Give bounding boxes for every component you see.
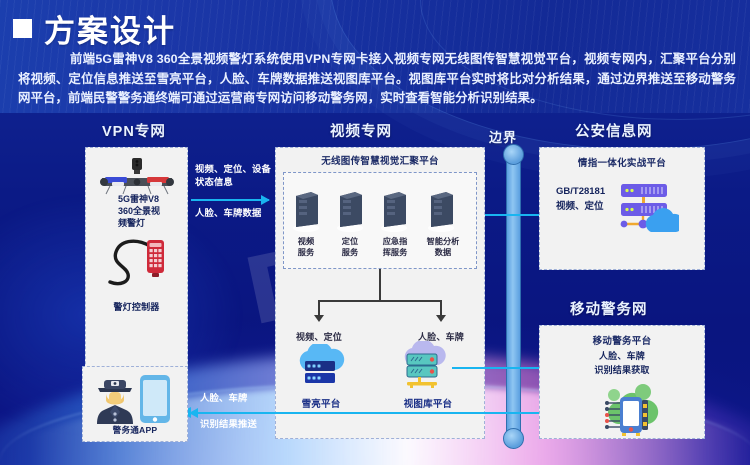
server-label-emergency-l1: 应急指 xyxy=(374,236,416,247)
smartphone-icon xyxy=(139,374,171,424)
police-info-platform-title: 情指一体化实战平台 xyxy=(539,155,705,169)
mobile-app-label: 警务通APP xyxy=(82,424,188,436)
section-title-video: 视频专网 xyxy=(330,120,392,141)
connector-branch-right xyxy=(440,300,442,316)
server-label-location-service-l1: 定位 xyxy=(332,236,368,247)
platform-label-xueliang: 雪亮平台 xyxy=(283,396,359,410)
connector-arrowhead-right xyxy=(436,315,446,322)
line-mobile-police-to-app xyxy=(190,412,565,414)
police-officer-avatar-icon xyxy=(92,372,138,424)
mobile-police-line1: 人脸、车牌 xyxy=(539,349,705,362)
connector-arrowhead-left xyxy=(314,315,324,322)
slide-canvas: D 宇东技术 YUDONGJISHU 方案设计 前端5G雷神V8 360全景视频… xyxy=(0,0,750,465)
arrow-vpn-to-video xyxy=(191,199,269,201)
light-controller-icon xyxy=(100,232,175,292)
mobile-police-line2: 识别结果获取 xyxy=(539,363,705,376)
light-controller-label: 警灯控制器 xyxy=(85,300,188,313)
flow-label-to-app-l1: 人脸、车牌 xyxy=(200,392,248,405)
section-title-police-info: 公安信息网 xyxy=(575,120,653,141)
server-icon-intelligent-analysis-data xyxy=(428,192,454,232)
boundary-capsule xyxy=(506,150,521,440)
boundary-knob-top xyxy=(503,144,524,165)
police-info-server-cloud-icon xyxy=(617,180,679,242)
branch-label-video-location: 视频、定位 xyxy=(288,330,350,343)
boundary-knob-bottom xyxy=(503,428,524,449)
connector-trunk xyxy=(379,269,381,301)
header-paragraph: 前端5G雷神V8 360全景视频警灯系统使用VPN专网卡接入视频专网无线图传智慧… xyxy=(18,50,736,109)
server-icon-video-service xyxy=(293,192,319,232)
vpn-device-label-line3: 频警灯 xyxy=(118,217,188,229)
flow-label-face-plate-data: 人脸、车牌数据 xyxy=(195,207,261,220)
platform-label-shitu-library: 视图库平台 xyxy=(390,396,466,410)
police-light-bar-icon xyxy=(96,158,178,198)
section-title-vpn: VPN专网 xyxy=(102,120,166,141)
page-title: 方案设计 xyxy=(44,6,176,51)
server-label-emergency-l2: 挥服务 xyxy=(374,247,416,258)
mobile-terminal-cloud-icon xyxy=(594,378,666,440)
flow-label-video-location-status-l2: 状态信息 xyxy=(195,176,233,189)
server-icon-emergency-command-service xyxy=(381,192,407,232)
server-label-analysis-l2: 数据 xyxy=(418,247,468,258)
shitu-library-platform-icon xyxy=(396,341,454,393)
server-icon-location-service xyxy=(337,192,363,232)
mobile-police-platform-title: 移动警务平台 xyxy=(539,333,705,347)
section-title-mobile-police-right: 移动警务网 xyxy=(570,298,648,319)
flow-label-video-location-status-l1: 视频、定位、设备 xyxy=(195,163,271,176)
connector-branch-left xyxy=(318,300,320,316)
flow-label-to-app-l2: 识别结果推送 xyxy=(200,418,257,431)
server-label-video-service-l2: 服务 xyxy=(288,247,324,258)
video-platform-title: 无线图传智慧视觉汇聚平台 xyxy=(275,153,485,167)
xueliang-platform-icon xyxy=(293,344,347,392)
connector-crossbar xyxy=(318,300,441,302)
server-label-analysis-l1: 智能分析 xyxy=(418,236,468,247)
vpn-device-label-line1: 5G雷神V8 xyxy=(118,193,188,205)
vpn-device-label-line2: 360全景视 xyxy=(118,205,188,217)
server-label-video-service-l1: 视频 xyxy=(288,236,324,247)
title-bullet-square xyxy=(13,19,32,38)
server-label-location-service-l2: 服务 xyxy=(332,247,368,258)
